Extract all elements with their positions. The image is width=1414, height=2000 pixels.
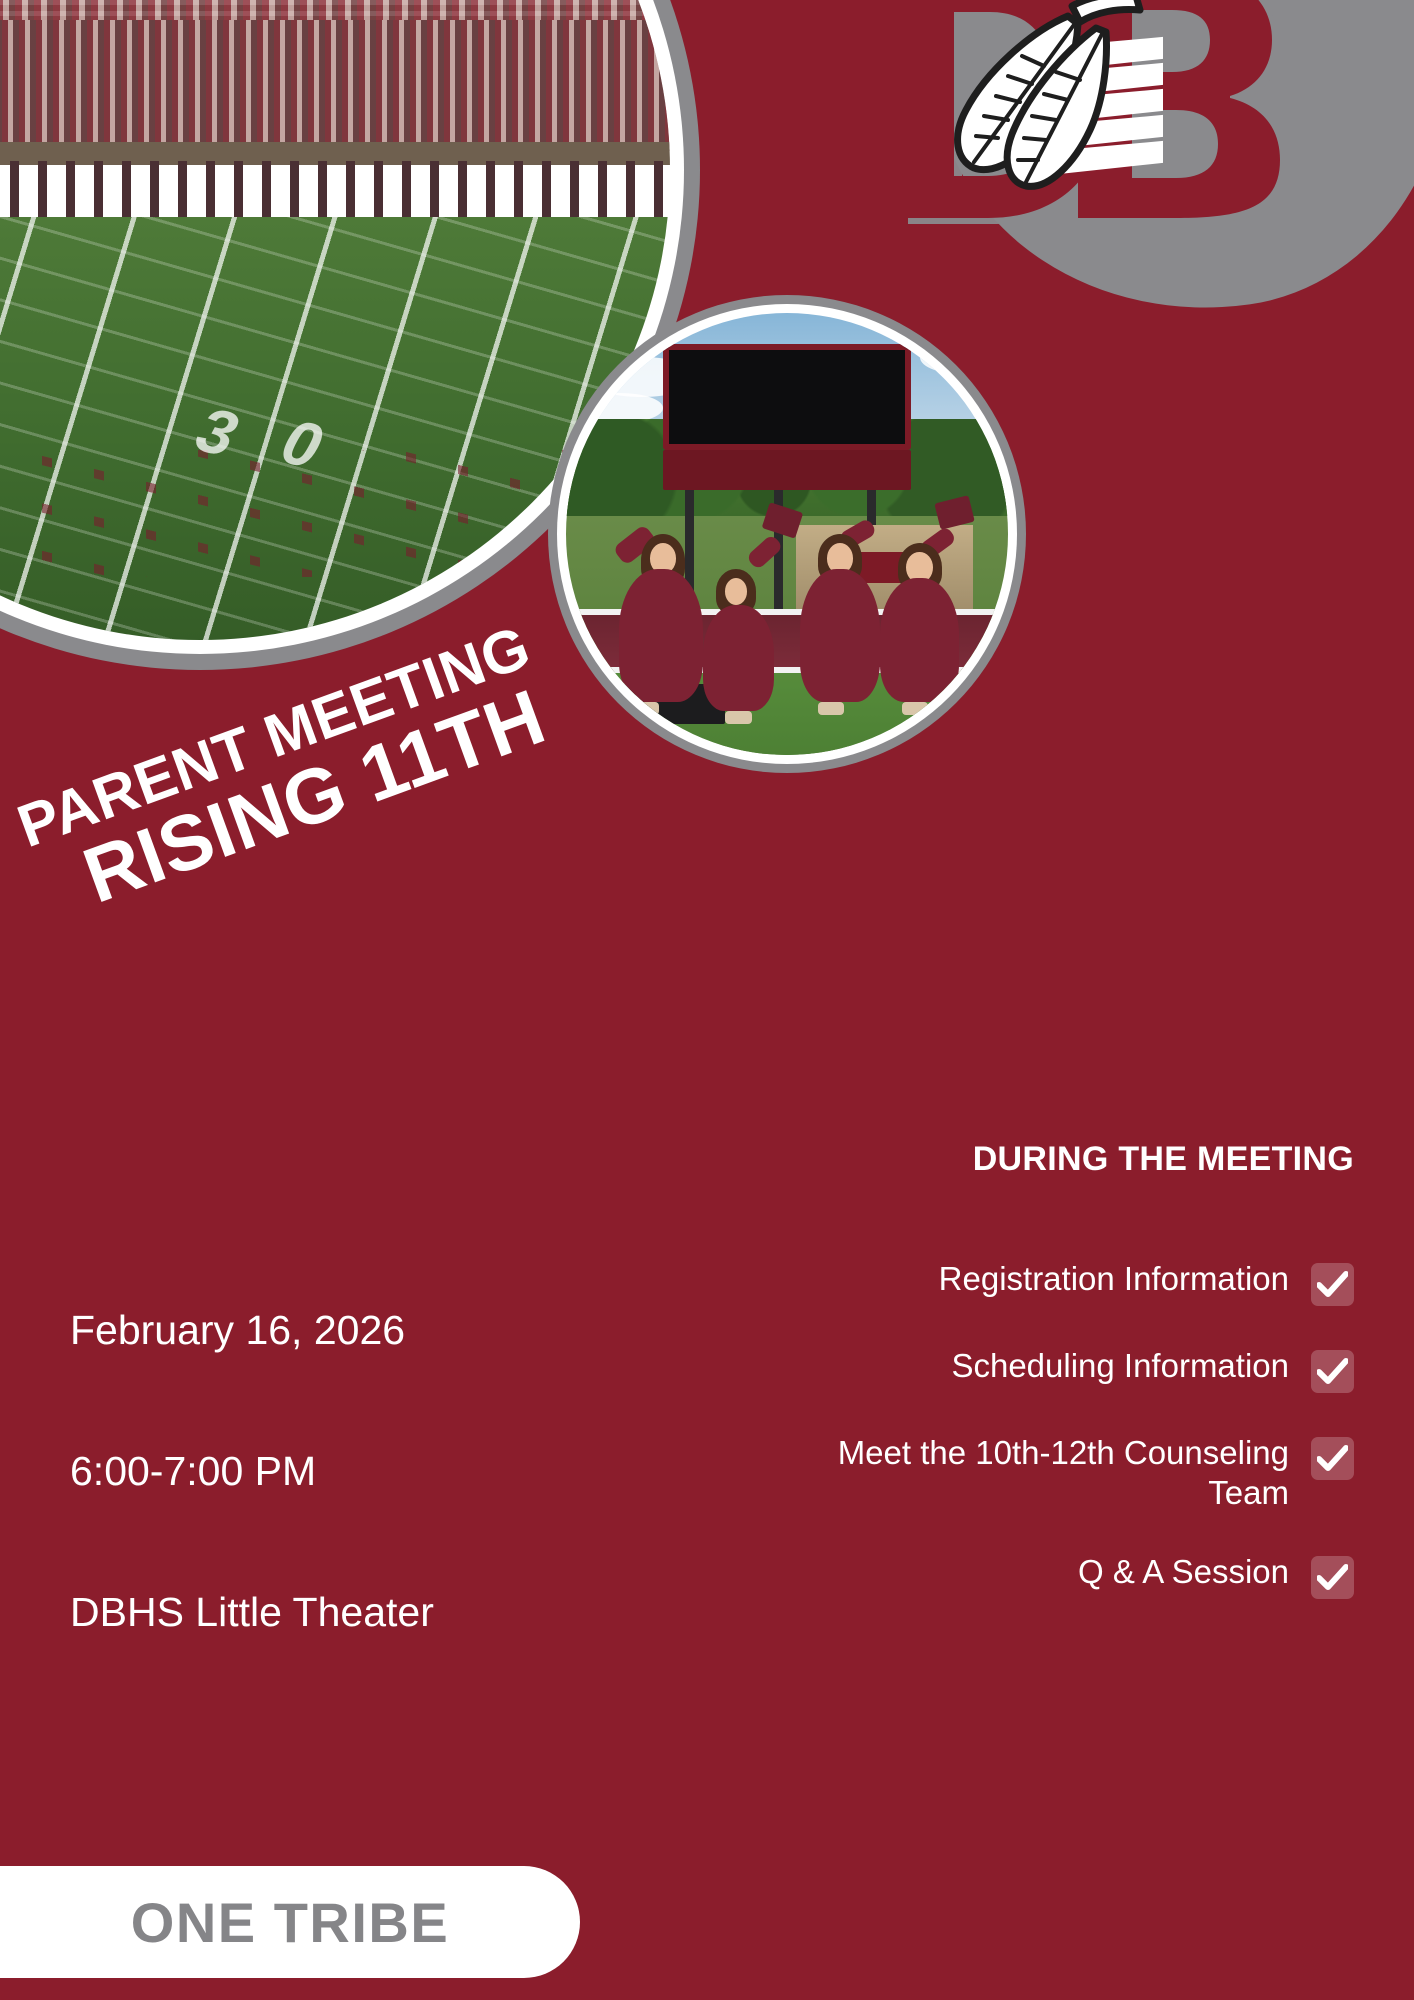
dbhs-db-logo — [900, 0, 1280, 280]
checkbox-checked-icon[interactable] — [1311, 1350, 1354, 1393]
checklist-item: Registration Information — [734, 1259, 1354, 1306]
event-location: DBHS Little Theater — [70, 1592, 434, 1633]
checklist-item-label: Scheduling Information — [951, 1346, 1289, 1386]
one-tribe-banner: ONE TRIBE — [0, 1866, 580, 1978]
checkbox-checked-icon[interactable] — [1311, 1263, 1354, 1306]
one-tribe-slogan: ONE TRIBE — [71, 1890, 449, 1955]
checkbox-checked-icon[interactable] — [1311, 1437, 1354, 1480]
checklist-item: Scheduling Information — [734, 1346, 1354, 1393]
event-date: February 16, 2026 — [70, 1310, 434, 1351]
event-details: February 16, 2026 6:00-7:00 PM DBHS Litt… — [70, 1310, 434, 1633]
checklist-item: Q & A Session — [734, 1552, 1354, 1599]
checklist-item: Meet the 10th-12th Counseling Team — [734, 1433, 1354, 1512]
checklist-item-label: Q & A Session — [1078, 1552, 1289, 1592]
flyer-poster: 4 0 3 0 — [0, 0, 1414, 2000]
event-time: 6:00-7:00 PM — [70, 1451, 434, 1492]
during-the-meeting-section: DURING THE MEETING Registration Informat… — [734, 1140, 1354, 1639]
during-the-meeting-title: DURING THE MEETING — [734, 1140, 1354, 1179]
checkbox-checked-icon[interactable] — [1311, 1556, 1354, 1599]
checklist-item-label: Registration Information — [939, 1259, 1289, 1299]
checklist-item-label: Meet the 10th-12th Counseling Team — [829, 1433, 1289, 1512]
